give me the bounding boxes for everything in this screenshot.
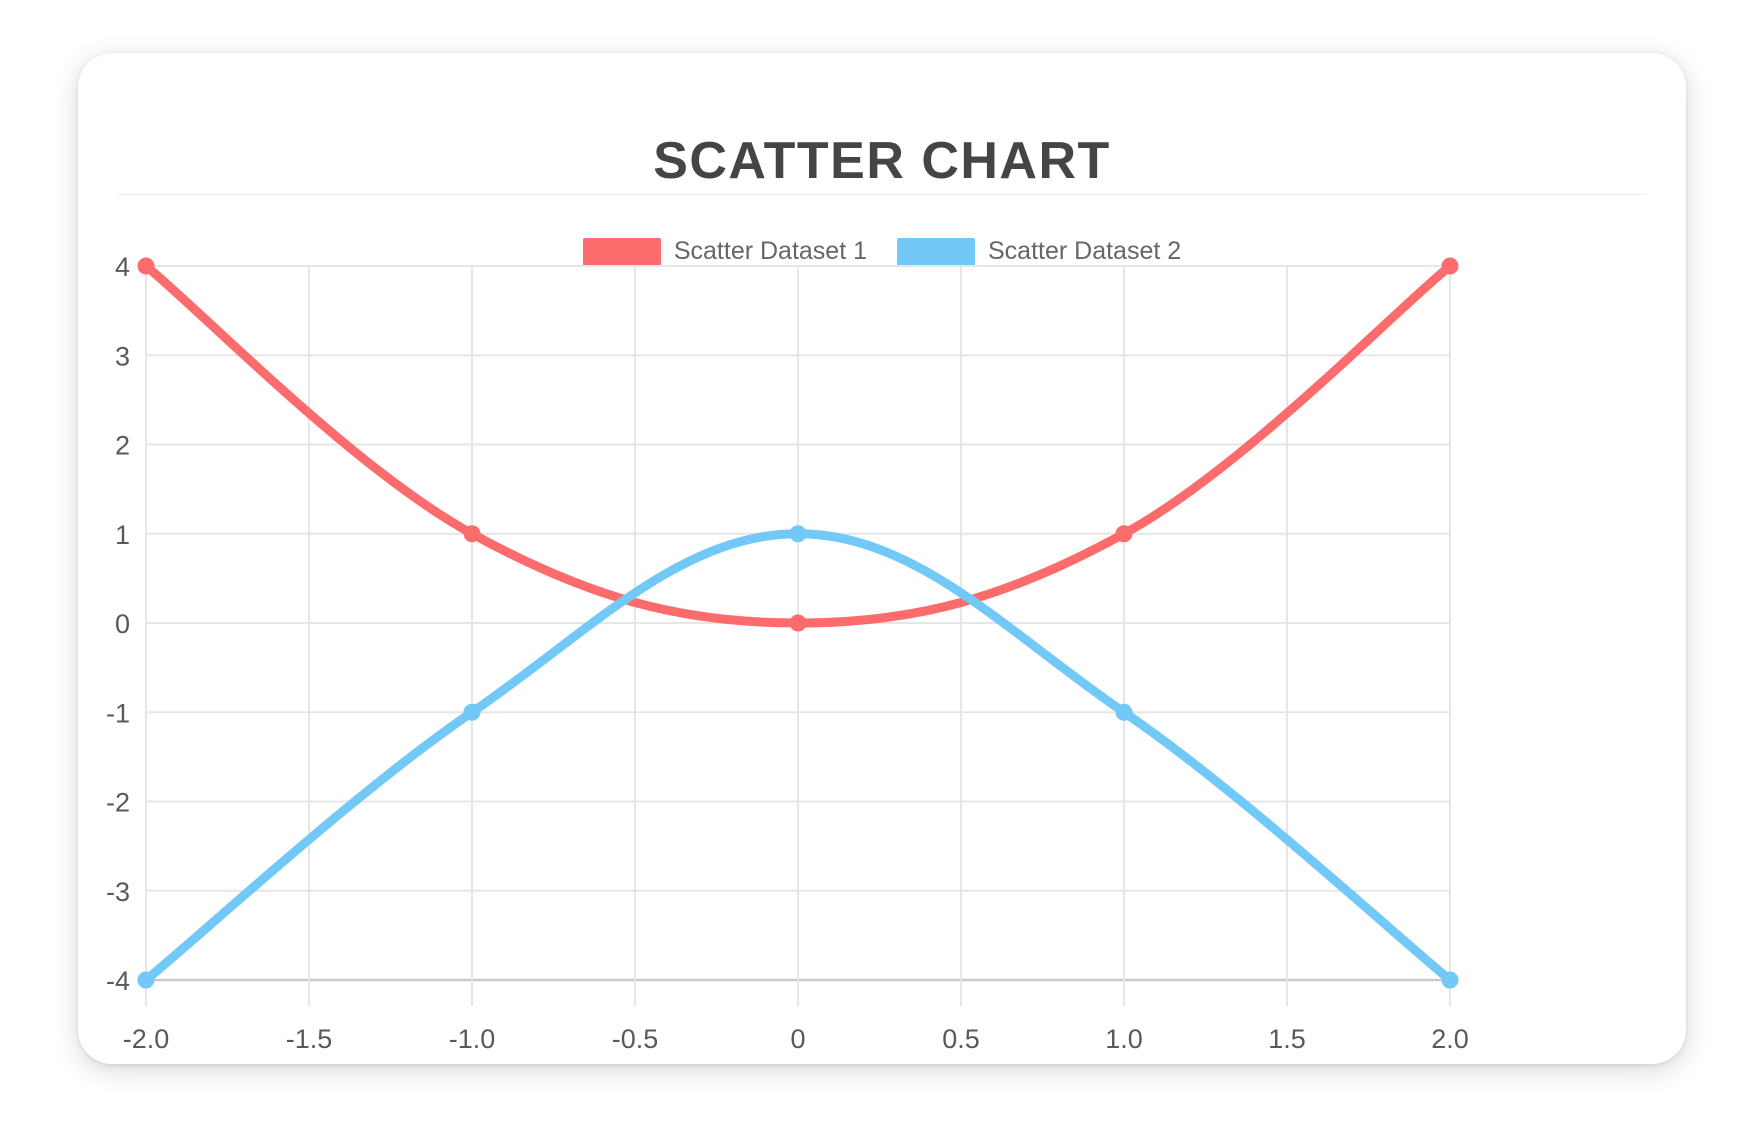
screenshot-root: SCATTER CHART Scatter Dataset 1Scatter D… (0, 0, 1763, 1144)
data-point[interactable] (465, 705, 480, 720)
y-axis-tick-label: -4 (106, 966, 130, 996)
y-axis-tick-label: -3 (106, 877, 130, 907)
x-axis-tick-label: -2.0 (123, 1024, 170, 1054)
y-axis-tick-label: 4 (115, 252, 130, 282)
x-axis-tick-label: -1.5 (286, 1024, 333, 1054)
x-axis-tick-label: 1.5 (1268, 1024, 1306, 1054)
data-point[interactable] (1443, 259, 1458, 274)
y-axis-tick-label: -1 (106, 698, 130, 728)
data-point[interactable] (1443, 973, 1458, 988)
y-axis-tick-label: 2 (115, 431, 130, 461)
y-axis-tick-label: 0 (115, 609, 130, 639)
data-point[interactable] (1117, 705, 1132, 720)
data-point[interactable] (139, 259, 154, 274)
x-axis-tick-label: -1.0 (449, 1024, 496, 1054)
x-axis-tick-label: 0.5 (942, 1024, 980, 1054)
scatter-plot-svg: 43210-1-2-3-4-2.0-1.5-1.0-0.500.51.01.52… (78, 53, 1686, 1064)
chart-card: SCATTER CHART Scatter Dataset 1Scatter D… (78, 53, 1686, 1064)
data-point[interactable] (465, 526, 480, 541)
data-point[interactable] (139, 973, 154, 988)
y-axis-tick-label: -2 (106, 788, 130, 818)
x-axis-tick-label: -0.5 (612, 1024, 659, 1054)
x-axis-tick-label: 1.0 (1105, 1024, 1143, 1054)
x-axis-tick-label: 2.0 (1431, 1024, 1469, 1054)
data-point[interactable] (791, 616, 806, 631)
x-axis-tick-label: 0 (790, 1024, 805, 1054)
plot-area: 43210-1-2-3-4-2.0-1.5-1.0-0.500.51.01.52… (78, 53, 1686, 1064)
data-point[interactable] (1117, 526, 1132, 541)
y-axis-tick-label: 1 (115, 520, 130, 550)
data-point[interactable] (791, 526, 806, 541)
y-axis-tick-label: 3 (115, 341, 130, 371)
